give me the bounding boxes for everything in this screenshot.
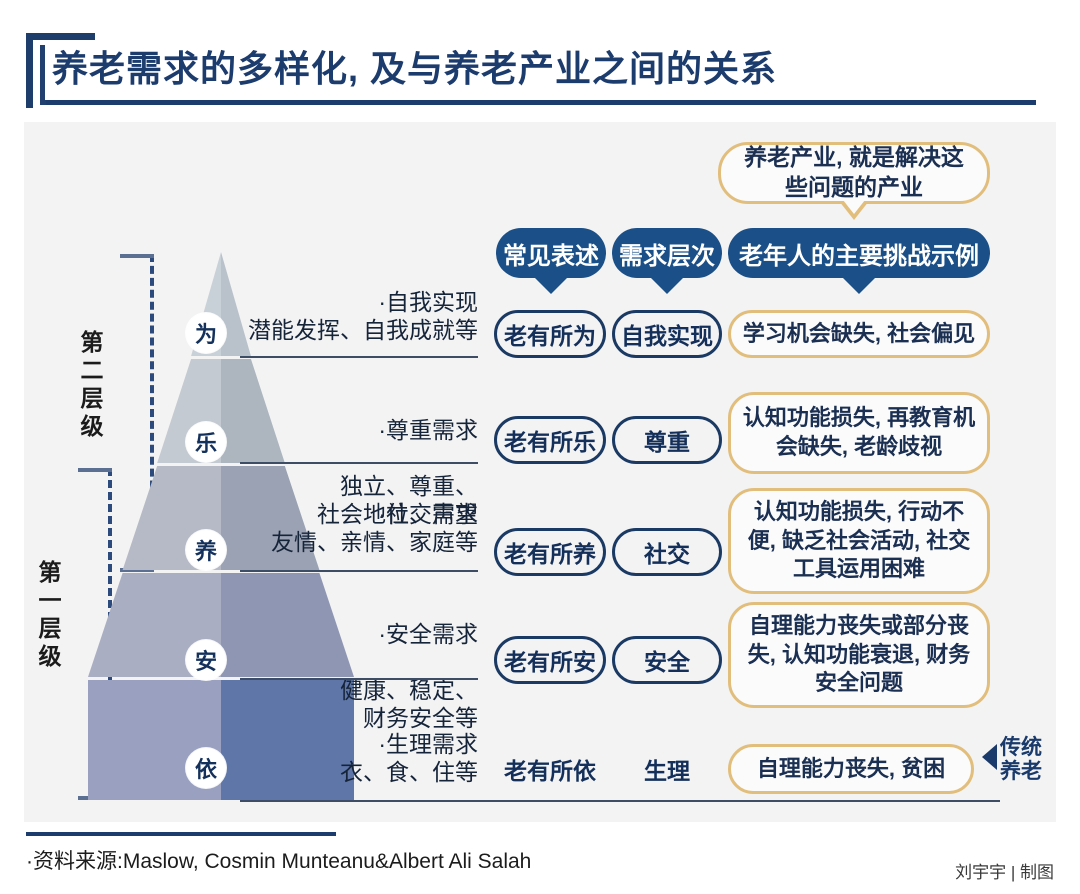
header-badge-main-challenges[interactable]: 老年人的主要挑战示例	[728, 228, 990, 278]
industry-callout-text: 养老产业, 就是解决这些问题的产业	[735, 143, 973, 203]
expression-pill-2[interactable]: 老有所乐	[494, 416, 606, 464]
challenge-box-1: 学习机会缺失, 社会偏见	[728, 310, 990, 358]
need-detail-3: 友情、亲情、家庭等	[230, 528, 478, 556]
need-block-1: ·自我实现 潜能发挥、自我成就等	[230, 288, 478, 344]
footer-rule	[26, 832, 336, 836]
challenge-box-3: 认知功能损失, 行动不便, 缺乏社会活动, 社交工具运用困难	[728, 488, 990, 594]
baseline-underline	[240, 800, 1000, 802]
expression-pill-1[interactable]: 老有所为	[494, 310, 606, 358]
need-detail-1: 潜能发挥、自我成就等	[230, 316, 478, 344]
badge-tail-icon	[534, 277, 568, 294]
need-detail-5: 衣、食、住等	[230, 758, 478, 786]
industry-callout: 养老产业, 就是解决这些问题的产业	[718, 142, 990, 204]
expression-text-5: 老有所依	[494, 748, 606, 790]
pyramid-glyph-5: 依	[186, 748, 226, 788]
header-badge-need-level[interactable]: 需求层次	[612, 228, 722, 278]
page-title: 养老需求的多样化, 及与养老产业之间的关系	[52, 40, 777, 92]
pyramid-glyph-2: 乐	[186, 422, 226, 462]
badge-tail-icon	[842, 277, 876, 294]
level-pill-1[interactable]: 自我实现	[612, 310, 722, 358]
need-underline-2	[240, 462, 478, 464]
need-title-5: ·生理需求	[230, 730, 478, 758]
header-badge-label: 常见表述	[503, 236, 599, 271]
title-underline	[46, 100, 1036, 105]
level-pill-4[interactable]: 安全	[612, 636, 722, 684]
header-badge-label: 老年人的主要挑战示例	[739, 236, 979, 271]
level-pill-2[interactable]: 尊重	[612, 416, 722, 464]
need-detail-4: 健康、稳定、 财务安全等	[230, 676, 478, 732]
need-title-3: ·社交需求	[230, 500, 478, 528]
need-underline-3	[240, 570, 478, 572]
expression-pill-4[interactable]: 老有所安	[494, 636, 606, 684]
pyramid-glyph-4: 安	[186, 640, 226, 680]
traditional-arrow-icon	[982, 744, 997, 770]
need-title-1: ·自我实现	[230, 288, 478, 316]
need-title-2: ·尊重需求	[230, 416, 478, 444]
need-title-4: ·安全需求	[230, 620, 478, 648]
level-text-5: 生理	[612, 748, 722, 790]
pyramid-glyph-3: 养	[186, 530, 226, 570]
need-block-5: ·生理需求 衣、食、住等	[230, 730, 478, 786]
footer-credit: 刘宇宇 | 制图	[955, 858, 1054, 883]
footer-source: ·资料来源:Maslow, Cosmin Munteanu&Albert Ali…	[26, 845, 531, 875]
callout-tail-inner-icon	[843, 200, 865, 214]
challenge-box-2: 认知功能损失, 再教育机会缺失, 老龄歧视	[728, 392, 990, 474]
need-underline-1	[240, 356, 478, 358]
bracket-label-level-one: 第一层级	[36, 560, 59, 672]
page-header: 养老需求的多样化, 及与养老产业之间的关系	[0, 0, 1080, 118]
challenge-box-5: 自理能力丧失, 贫困	[728, 744, 974, 794]
need-underline-4	[240, 678, 478, 680]
expression-pill-3[interactable]: 老有所养	[494, 528, 606, 576]
badge-tail-icon	[650, 277, 684, 294]
level-pill-3[interactable]: 社交	[612, 528, 722, 576]
need-block-3: ·社交需求 友情、亲情、家庭等	[230, 500, 478, 556]
header-badge-common-expression[interactable]: 常见表述	[496, 228, 606, 278]
challenge-box-4: 自理能力丧失或部分丧失, 认知功能衰退, 财务安全问题	[728, 602, 990, 708]
traditional-care-note: 传统 养老	[1000, 736, 1042, 783]
pyramid-glyph-1: 为	[186, 313, 226, 353]
header-badge-label: 需求层次	[619, 236, 715, 271]
